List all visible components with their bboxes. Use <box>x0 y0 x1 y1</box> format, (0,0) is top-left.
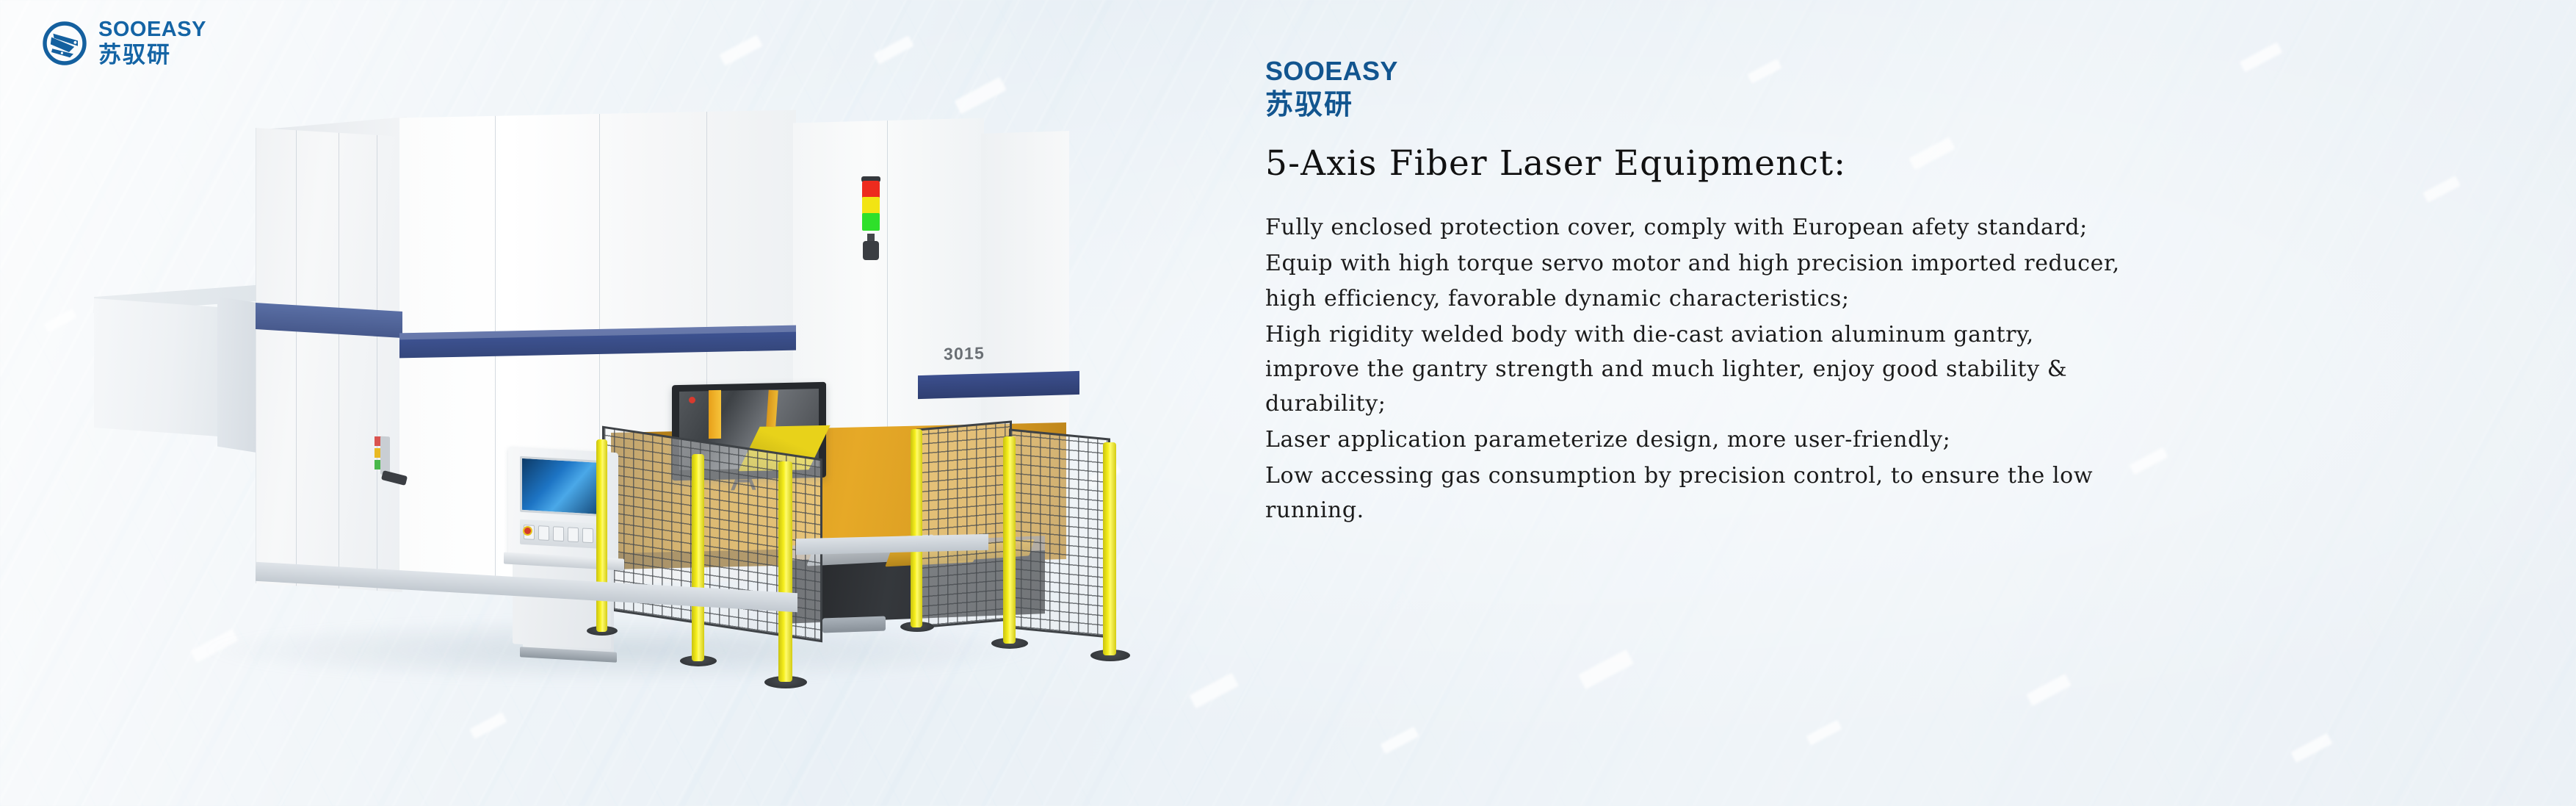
logo-chinese-name: 苏驭研 <box>98 44 206 67</box>
product-feature-list: Fully enclosed protection cover, comply … <box>1265 210 2455 528</box>
enclosure-left-panel <box>256 128 402 592</box>
accent-band-right <box>918 371 1079 399</box>
hmi-screen[interactable] <box>520 456 605 517</box>
safety-bollard <box>692 454 704 661</box>
company-logo: SOOEASY 苏驭研 <box>43 19 206 67</box>
logo-wordmark: SOOEASY <box>98 19 206 40</box>
feature-paragraph: Fully enclosed protection cover, comply … <box>1265 210 2455 245</box>
safety-fence-panel-mid <box>916 420 1012 628</box>
emergency-stop-icon[interactable] <box>523 526 532 536</box>
hmi-button-panel[interactable] <box>520 519 607 550</box>
product-description-panel: SOOEASY 苏驭研 5-Axis Fiber Laser Equipmenc… <box>1265 57 2455 529</box>
sooeasy-circular-logo-icon <box>43 21 87 65</box>
door-indicator-body <box>380 436 390 475</box>
safety-bollard <box>596 439 607 632</box>
machine-foot <box>822 616 886 633</box>
safety-bollard <box>1103 442 1116 655</box>
panel-brand-cn: 苏驭研 <box>1265 90 2455 120</box>
feature-paragraph: Laser application parameterize design, m… <box>1265 422 2455 457</box>
extension-cabinet-face <box>94 298 219 436</box>
panel-brand-en: SOOEASY <box>1265 57 2455 85</box>
safety-bollard <box>778 461 792 682</box>
machine-model-label: 3015 <box>944 343 985 364</box>
safety-bollard <box>1003 436 1016 644</box>
signal-tower-red-lamp-icon <box>862 181 880 198</box>
signal-tower-green-lamp-icon <box>862 213 880 231</box>
signal-tower-base <box>863 241 879 260</box>
laser-machine-illustration: 3015 A <box>88 110 1131 698</box>
safety-fence-panel-right <box>1009 428 1110 638</box>
feature-paragraph: Low accessing gas consumption by precisi… <box>1265 458 2455 528</box>
feature-paragraph: High rigidity welded body with die-cast … <box>1265 317 2455 421</box>
signal-tower-yellow-lamp-icon <box>862 197 880 215</box>
feature-paragraph: Equip with high torque servo motor and h… <box>1265 246 2455 315</box>
camera-feed-post-a <box>709 390 721 439</box>
extension-cabinet-side <box>217 297 258 453</box>
product-heading: 5-Axis Fiber Laser Equipmenct: <box>1265 145 2455 183</box>
camera-record-dot-icon <box>689 397 695 403</box>
safety-bollard <box>911 429 922 627</box>
